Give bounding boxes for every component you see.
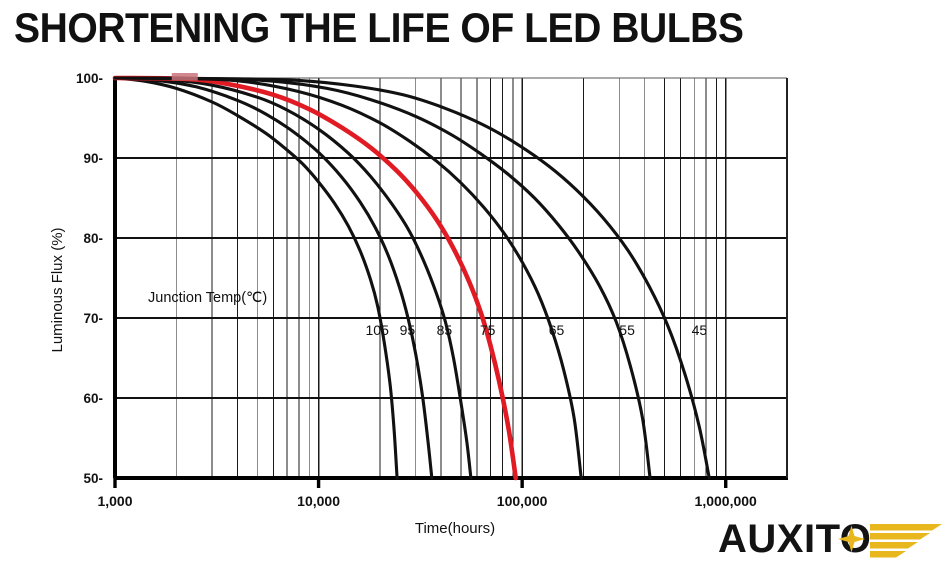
junction-temp-annotation: Junction Temp(℃) — [148, 290, 267, 306]
x-tick-label: 1,000 — [97, 493, 132, 509]
highlight-start-marker — [172, 73, 198, 81]
curve-65 — [115, 78, 581, 478]
chart-svg: 50-60-70-80-90-100- 1,00010,000100,0001,… — [0, 0, 948, 567]
series-labels: 105958575655545 — [366, 322, 708, 338]
minor-gridlines — [115, 78, 787, 478]
series-label-65: 65 — [549, 322, 565, 338]
curve-55 — [115, 78, 650, 478]
brand-logo: AUXITO — [718, 518, 942, 564]
x-axis-tick-labels: 1,00010,000100,0001,000,000 — [97, 493, 757, 509]
y-tick-label: 60- — [83, 391, 103, 406]
y-axis-tick-labels: 50-60-70-80-90-100- — [76, 71, 103, 486]
y-axis-title: Luminous Flux (%) — [49, 227, 66, 352]
slide-canvas: SHORTENING THE LIFE OF LED BULBS 50-60-7… — [0, 0, 948, 567]
y-tick-label: 70- — [83, 311, 103, 326]
x-tick-label: 10,000 — [297, 493, 340, 509]
series-label-95: 95 — [400, 322, 416, 338]
x-tick-label: 100,000 — [497, 493, 548, 509]
y-tick-label: 50- — [83, 471, 103, 486]
logo-wing-icon — [718, 518, 942, 564]
axis-frame — [114, 78, 788, 478]
curve-45 — [115, 78, 709, 478]
series-label-55: 55 — [619, 322, 635, 338]
series-label-85: 85 — [437, 322, 453, 338]
y-tick-label: 90- — [83, 151, 103, 166]
chart-figure: 50-60-70-80-90-100- 1,00010,000100,0001,… — [0, 0, 948, 567]
y-tick-label: 100- — [76, 71, 103, 86]
curve-85 — [115, 78, 471, 478]
series-label-75: 75 — [480, 322, 496, 338]
y-tick-label: 80- — [83, 231, 103, 246]
series-label-45: 45 — [692, 322, 708, 338]
data-curves — [115, 78, 709, 478]
x-tick-label: 1,000,000 — [695, 493, 757, 509]
series-label-105: 105 — [366, 322, 390, 338]
x-axis-title: Time(hours) — [415, 520, 495, 537]
major-horizontal-gridlines — [115, 158, 787, 398]
